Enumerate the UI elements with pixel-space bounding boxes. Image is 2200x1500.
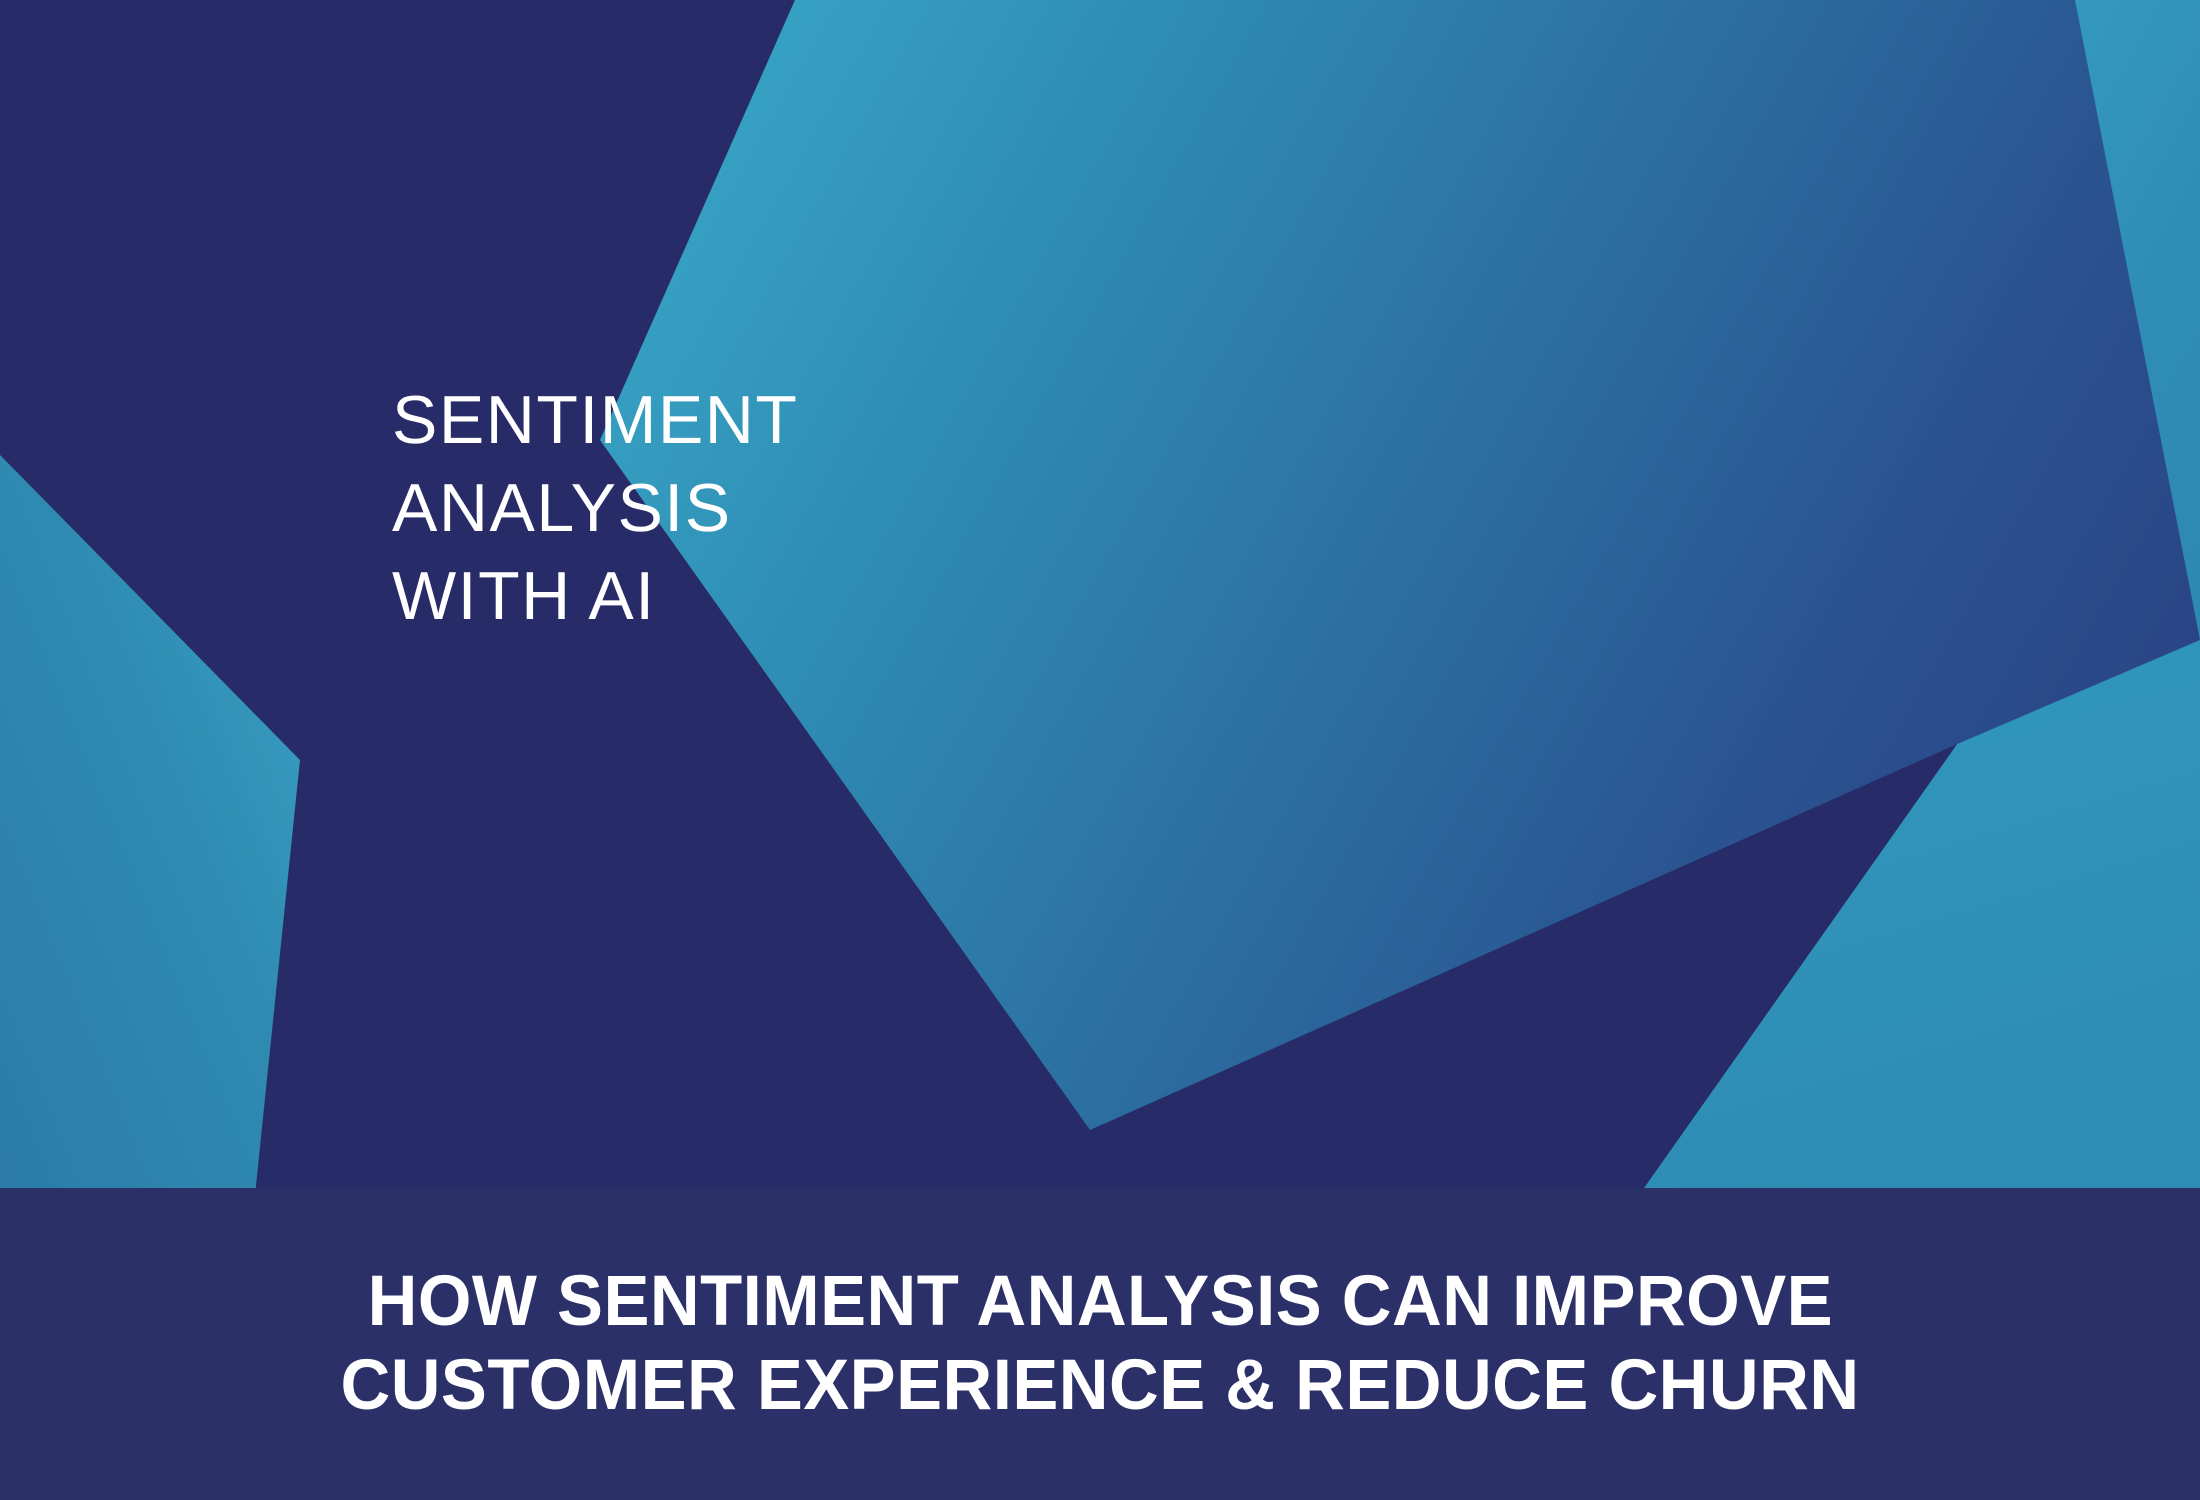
subtitle-line-1: HOW SENTIMENT ANALYSIS CAN IMPROVE (367, 1260, 1832, 1344)
page-title: SENTIMENT ANALYSIS WITH AI (392, 376, 1392, 640)
subtitle-band: HOW SENTIMENT ANALYSIS CAN IMPROVE CUSTO… (0, 1188, 2200, 1500)
title-slide: SENTIMENT ANALYSIS WITH AI HOW SENTIMENT… (0, 0, 2200, 1500)
title-line-1: SENTIMENT (392, 376, 1392, 464)
title-line-2: ANALYSIS (392, 464, 1392, 552)
title-line-3: WITH AI (392, 552, 1392, 640)
subtitle-line-2: CUSTOMER EXPERIENCE & REDUCE CHURN (340, 1344, 1859, 1428)
